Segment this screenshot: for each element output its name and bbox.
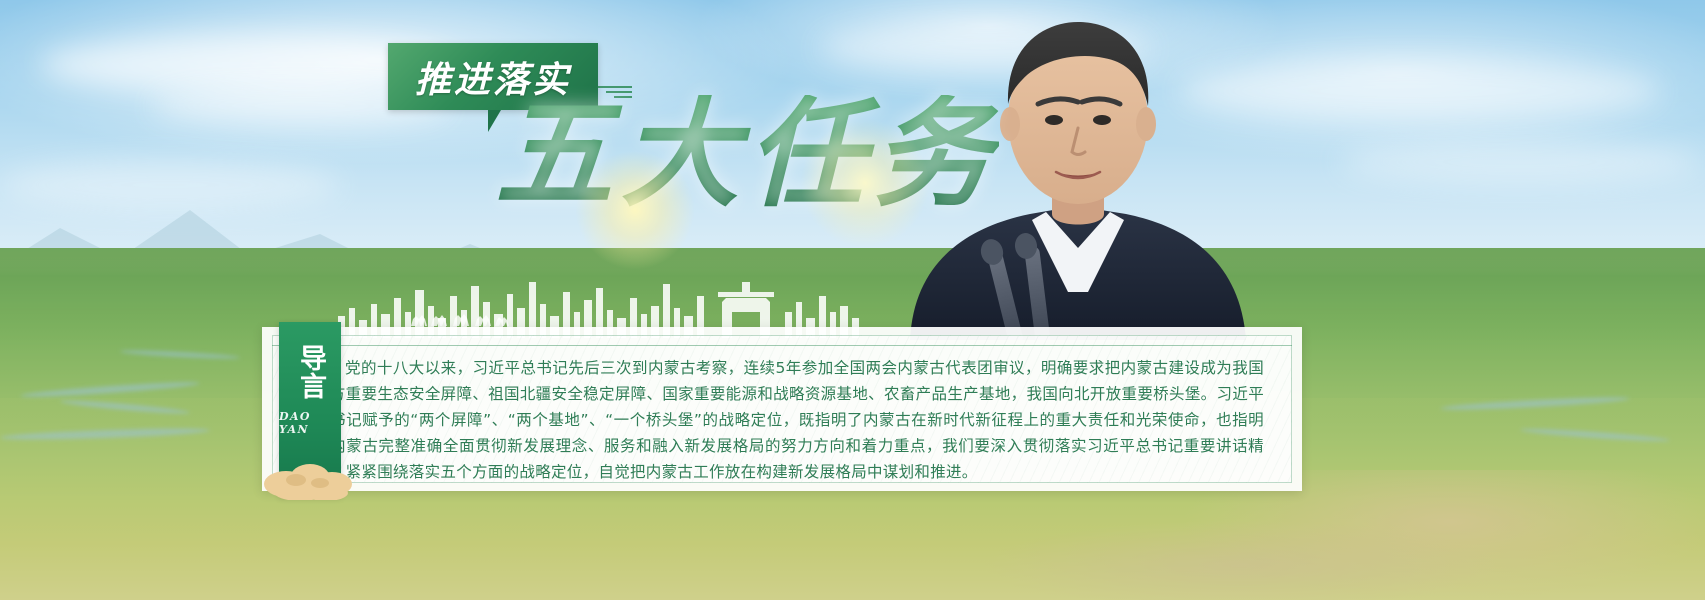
intro-label-en: DAO YAN <box>279 410 341 436</box>
cloud-ornament-icon <box>252 452 372 500</box>
hero-banner: 推进落实 五大任务 党的十八大以来，习近平总书记先后三次到内蒙古考察，连续5年参… <box>0 0 1705 600</box>
intro-label-cn: 导言 <box>292 344 328 400</box>
intro-panel-rule <box>272 345 1292 346</box>
intro-panel: 党的十八大以来，习近平总书记先后三次到内蒙古考察，连续5年参加全国两会内蒙古代表… <box>262 327 1302 491</box>
sand-dune <box>980 520 1500 600</box>
intro-body-text: 党的十八大以来，习近平总书记先后三次到内蒙古考察，连续5年参加全国两会内蒙古代表… <box>314 355 1264 485</box>
page-title: 五大任务 <box>495 95 999 213</box>
